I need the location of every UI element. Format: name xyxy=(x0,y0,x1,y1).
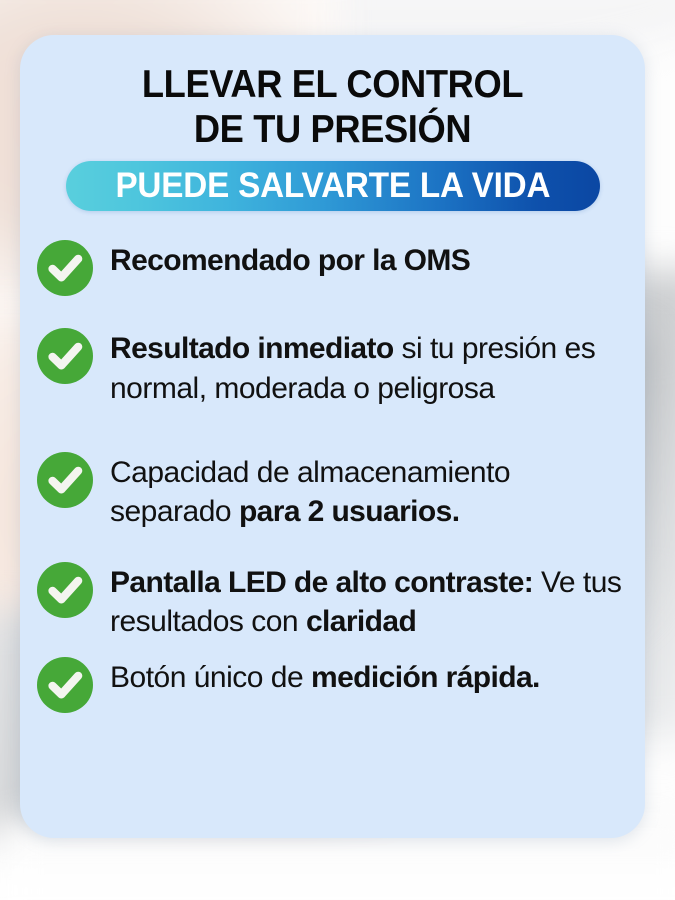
check-circle-icon xyxy=(36,656,94,714)
list-item-label: Capacidad de almacenamiento separado par… xyxy=(110,449,629,532)
list-item: Recomendado por la OMS xyxy=(36,237,629,297)
check-circle-icon xyxy=(36,451,94,509)
list-item-text-part: medición rápida. xyxy=(311,661,540,694)
list-item-text-part: Recomendado por la OMS xyxy=(110,244,470,277)
page-title: LLEVAR EL CONTROL DE TU PRESIÓN xyxy=(42,62,623,152)
list-item: Pantalla LED de alto contraste: Ve tus r… xyxy=(36,559,629,642)
headline-line-1: LLEVAR EL CONTROL xyxy=(42,62,623,107)
list-item: Capacidad de almacenamiento separado par… xyxy=(36,449,629,532)
list-item-text-part: Botón único de xyxy=(110,661,311,694)
highlight-pill-label: PUEDE SALVARTE LA VIDA xyxy=(115,166,550,206)
list-item-label: Pantalla LED de alto contraste: Ve tus r… xyxy=(110,559,629,642)
highlight-pill-wrapper: PUEDE SALVARTE LA VIDA xyxy=(20,161,645,211)
list-item-text-part: claridad xyxy=(306,605,416,638)
feature-card: LLEVAR EL CONTROL DE TU PRESIÓN PUEDE SA… xyxy=(20,35,645,838)
check-circle-icon xyxy=(36,239,94,297)
list-item: Resultado inmediato si tu presión es nor… xyxy=(36,325,629,408)
list-item-text-part: Resultado inmediato xyxy=(110,332,394,365)
list-item-text-part: para 2 usuarios. xyxy=(239,495,460,528)
list-item-text-part: Pantalla LED de alto contraste: xyxy=(110,566,533,599)
list-item: Botón único de medición rápida. xyxy=(36,654,629,714)
benefit-list: Recomendado por la OMSResultado inmediat… xyxy=(20,237,645,714)
check-circle-icon xyxy=(36,561,94,619)
check-circle-icon xyxy=(36,327,94,385)
highlight-pill: PUEDE SALVARTE LA VIDA xyxy=(66,161,600,211)
list-item-label: Botón único de medición rápida. xyxy=(110,654,540,698)
headline-line-2: DE TU PRESIÓN xyxy=(42,107,623,152)
list-item-label: Recomendado por la OMS xyxy=(110,237,470,281)
list-item-label: Resultado inmediato si tu presión es nor… xyxy=(110,325,629,408)
